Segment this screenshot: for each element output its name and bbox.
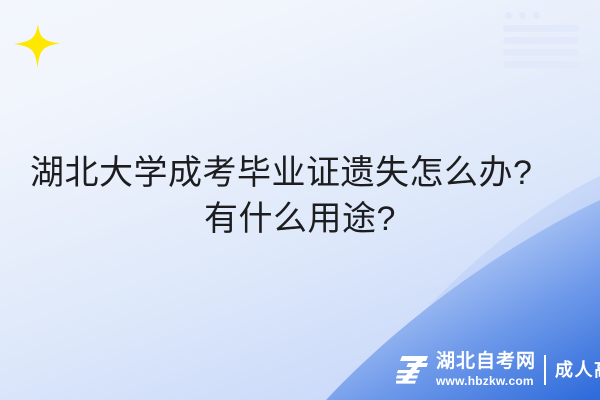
site-logo-lockup[interactable]: 湖北自考网 www.hbzkw.com 成人高考 (396, 350, 600, 390)
doc-bar (503, 61, 579, 68)
logo-text-block: 湖北自考网 www.hbzkw.com (436, 352, 536, 388)
doc-dots (505, 12, 583, 19)
logo-tagline: 成人高考 (555, 360, 600, 380)
banner: 湖北大学成考毕业证遗失怎么办? 有什么用途? 湖北自考网 www.hbzkw.c… (0, 0, 600, 400)
site-url: www.hbzkw.com (436, 374, 536, 388)
doc-dot (533, 12, 540, 19)
doc-bar (503, 37, 579, 44)
doc-dot (519, 12, 526, 19)
headline-line-1: 湖北大学成考毕业证遗失怎么办? (30, 150, 570, 196)
site-name: 湖北自考网 (436, 352, 536, 372)
logo-divider (544, 355, 546, 385)
headline-line-2: 有什么用途? (30, 196, 570, 242)
banner-headline: 湖北大学成考毕业证遗失怎么办? 有什么用途? (0, 150, 600, 242)
doc-bar (503, 49, 579, 56)
document-lines-icon (503, 12, 583, 72)
four-point-star-icon (14, 24, 60, 68)
hbzkw-z-logo-icon (396, 354, 430, 386)
doc-bar (503, 25, 579, 32)
doc-dot (505, 12, 512, 19)
